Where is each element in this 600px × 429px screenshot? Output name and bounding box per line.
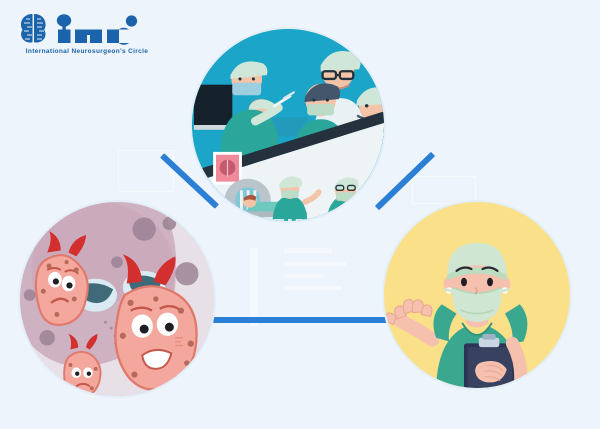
logo[interactable]: International Neurosurgeon's Circle — [12, 8, 162, 68]
watermark-bar-1 — [250, 248, 258, 326]
connector-left-to-right — [213, 317, 390, 323]
circle-tumor-cells[interactable] — [18, 200, 216, 398]
circle-nurse[interactable] — [382, 200, 572, 390]
nurse-with-clipboard-illustration — [384, 202, 570, 388]
brain-icon — [12, 8, 162, 50]
watermark-bar-4 — [284, 274, 324, 278]
watermark-bar-2 — [284, 248, 332, 253]
surgery-team-illustration — [192, 29, 384, 221]
infographic-canvas: International Neurosurgeon's Circle — [0, 0, 600, 429]
watermark-bar-3 — [284, 262, 346, 266]
circle-operating-room[interactable] — [190, 27, 386, 223]
tumor-cell-monsters-illustration — [20, 202, 214, 396]
logo-tagline: International Neurosurgeon's Circle — [17, 48, 157, 55]
watermark-bar-5 — [284, 286, 342, 290]
